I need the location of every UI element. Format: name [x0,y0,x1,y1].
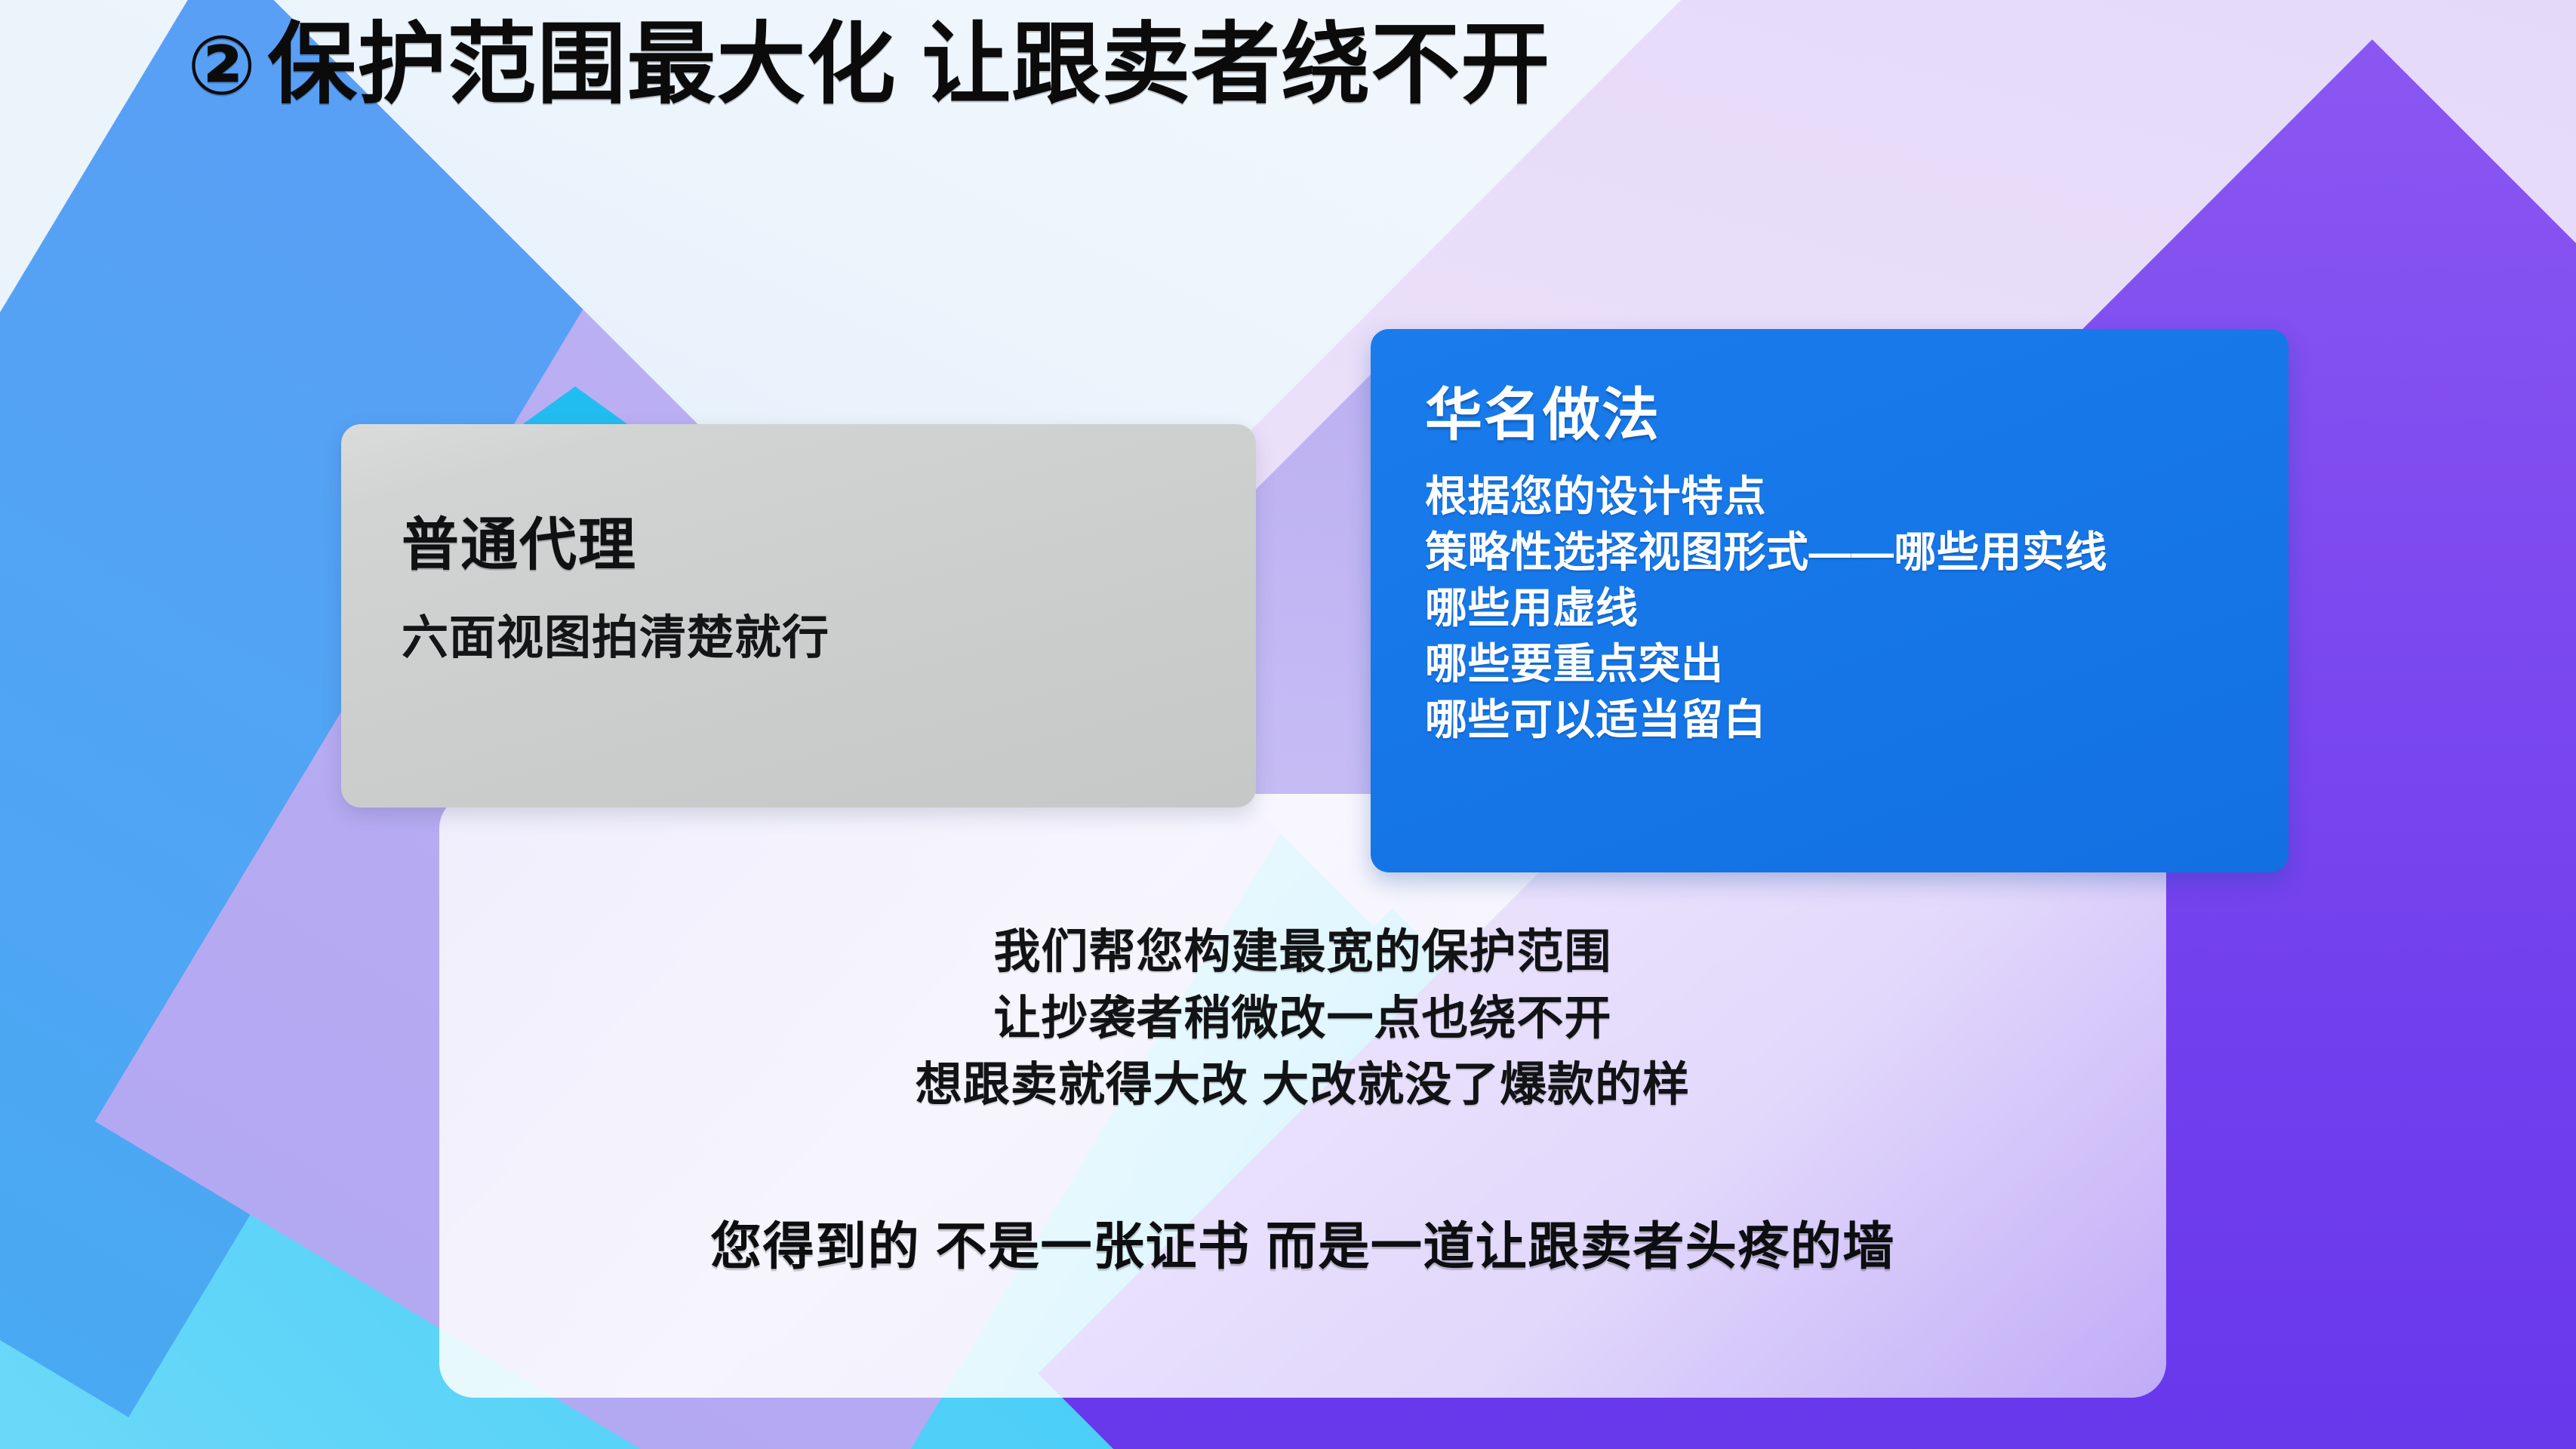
huaming-approach-line: 策略性选择视图形式——哪些用实线 [1425,525,2266,580]
ordinary-agent-detail: 六面视图拍清楚就行 [402,599,829,667]
huaming-approach-list: 根据您的设计特点 策略性选择视图形式——哪些用实线 哪些用虚线 哪些要重点突出 … [1425,469,2266,748]
huaming-approach-heading: 华名做法 [1425,368,1660,451]
summary-copy-block: 我们帮您构建最宽的保护范围 让抄袭者稍微改一点也绕不开 想跟卖就得大改 大改就没… [439,919,2166,1118]
slide-title-text: 保护范围最大化 让跟卖者绕不开 [267,15,1550,115]
huaming-approach-line: 根据您的设计特点 [1425,469,2266,525]
slide-title: ②保护范围最大化 让跟卖者绕不开 [187,14,1550,117]
summary-closing-statement: 您得到的 不是一张证书 而是一道让跟卖者头疼的墙 [439,1204,2166,1279]
huaming-approach-card: 华名做法 根据您的设计特点 策略性选择视图形式——哪些用实线 哪些用虚线 哪些要… [1371,329,2288,872]
huaming-approach-line: 哪些用虚线 [1425,580,2266,636]
summary-line: 让抄袭者稍微改一点也绕不开 [439,986,2166,1052]
slide-title-number: ② [187,20,257,111]
summary-line: 想跟卖就得大改 大改就没了爆款的样 [439,1052,2166,1118]
summary-line: 我们帮您构建最宽的保护范围 [439,919,2166,986]
huaming-approach-line: 哪些可以适当留白 [1425,692,2266,748]
ordinary-agent-card: 普通代理 六面视图拍清楚就行 [341,424,1256,808]
ordinary-agent-heading: 普通代理 [402,498,637,581]
huaming-approach-line: 哪些要重点突出 [1425,636,2266,692]
slide-canvas: ②保护范围最大化 让跟卖者绕不开 普通代理 六面视图拍清楚就行 华名做法 根据您… [0,0,2576,1449]
